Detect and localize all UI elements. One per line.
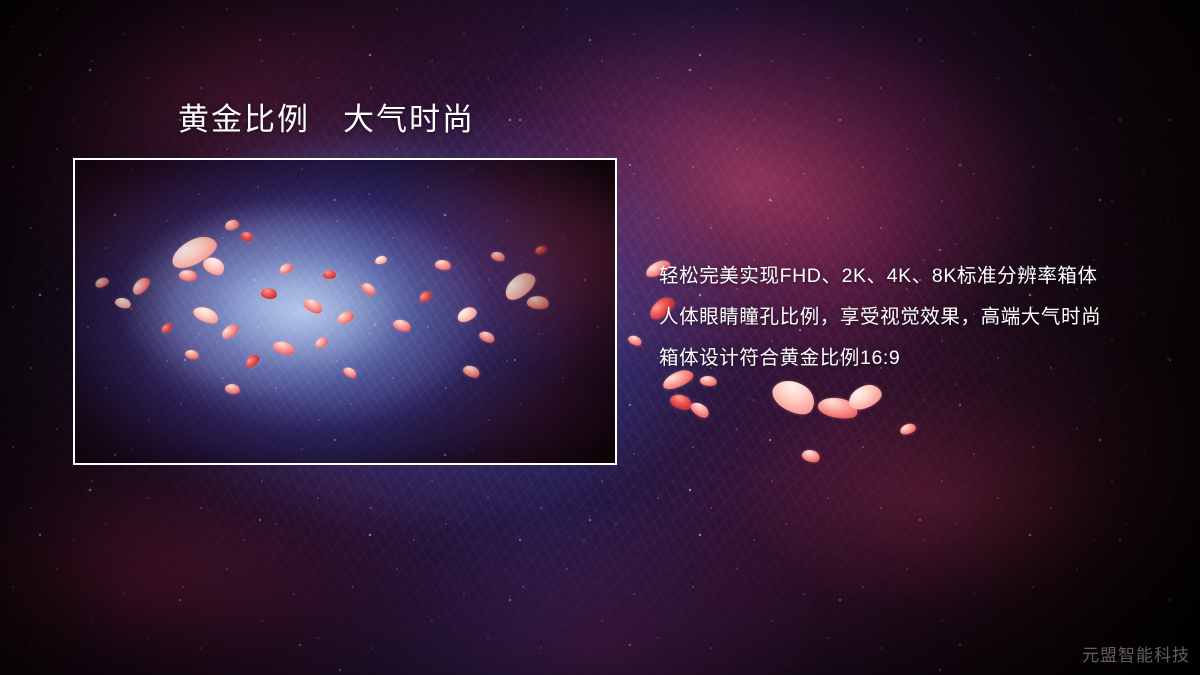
body-copy: 轻松完美实现FHD、2K、4K、8K标准分辨率箱体 人体眼睛瞳孔比例，享受视觉效… — [659, 256, 1179, 379]
body-copy-line-1: 轻松完美实现FHD、2K、4K、8K标准分辨率箱体 — [659, 256, 1179, 297]
body-copy-line-2: 人体眼睛瞳孔比例，享受视觉效果，高端大气时尚 — [659, 297, 1179, 338]
petal — [899, 422, 917, 435]
petal — [800, 447, 821, 465]
body-copy-line-3: 箱体设计符合黄金比例16:9 — [659, 338, 1179, 379]
framed-image — [73, 158, 617, 465]
petal — [688, 399, 711, 421]
petal — [627, 333, 644, 348]
framed-vignette — [75, 160, 615, 463]
framed-image-content — [75, 160, 615, 463]
petal — [767, 372, 820, 421]
page-title: 黄金比例 大气时尚 — [178, 100, 475, 140]
petal — [845, 381, 884, 412]
petal — [816, 393, 860, 422]
petal — [668, 391, 694, 413]
watermark: 元盟智能科技 — [1082, 641, 1190, 666]
presentation-slide: 黄金比例 大气时尚 轻松完美实现FHD、2K、4K、8K标准分辨率箱体 人体眼睛… — [0, 0, 1200, 675]
